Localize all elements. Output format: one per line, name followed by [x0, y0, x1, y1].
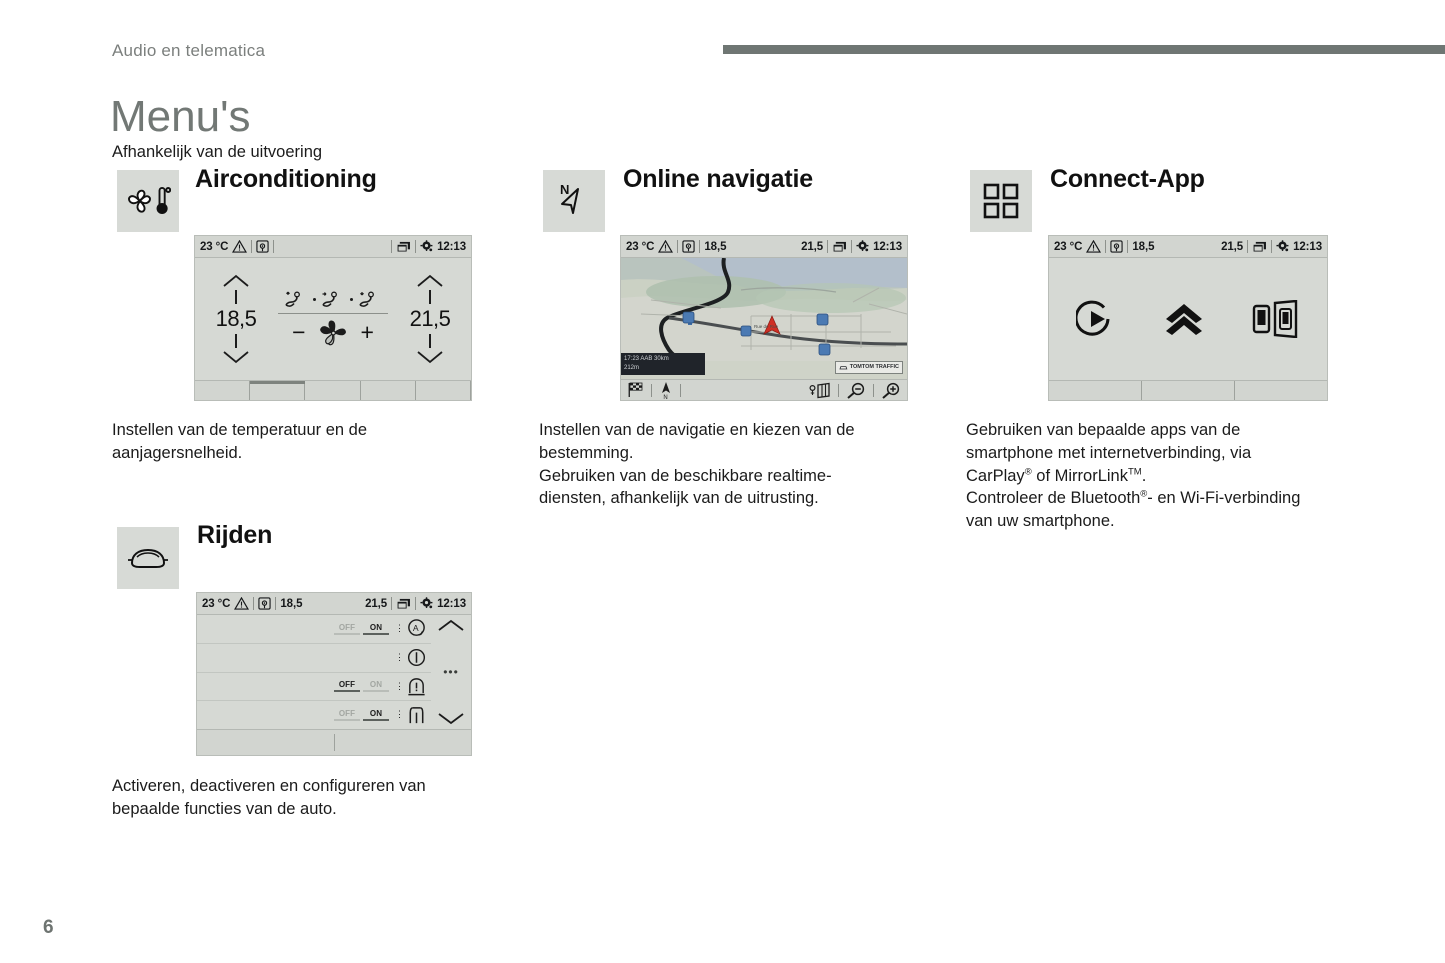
- divider: [275, 597, 276, 610]
- table-row[interactable]: ⋮: [197, 644, 431, 673]
- compass-north-icon[interactable]: N: [659, 381, 673, 399]
- divider: [651, 384, 652, 397]
- map-toolbar[interactable]: N: [621, 379, 907, 400]
- gear-icon: [420, 240, 433, 253]
- zoom-out-icon[interactable]: [846, 382, 866, 399]
- outside-temp: 23 °C: [626, 241, 654, 253]
- left-temp: 18,5: [704, 241, 726, 253]
- airflow-face-icon[interactable]: [321, 291, 345, 309]
- window-icon: [396, 241, 411, 253]
- signal-icon: [256, 240, 269, 253]
- chevron-up-icon[interactable]: [221, 274, 251, 288]
- tab-1[interactable]: [195, 381, 250, 400]
- warning-triangle-icon: [234, 597, 249, 610]
- active-tab-indicator: [250, 381, 305, 384]
- window-icon: [396, 598, 411, 610]
- outside-temp: 23 °C: [200, 241, 228, 253]
- screen-tabbar[interactable]: [195, 380, 471, 400]
- map-view[interactable]: Rue de Rue 17:23 AAB 30km 212m TOMTOM TR…: [621, 258, 907, 379]
- clock: 12:13: [437, 598, 466, 610]
- window-icon: [1252, 241, 1267, 253]
- tab-2[interactable]: [1142, 381, 1235, 400]
- outside-temp: 23 °C: [202, 598, 230, 610]
- tick-mark: [235, 290, 237, 304]
- warning-triangle-icon: [1086, 240, 1101, 253]
- route-distance: 212m: [624, 364, 702, 373]
- divider: [838, 384, 839, 397]
- airflow-and-fan: − +: [267, 291, 399, 348]
- citroen-chevrons-icon[interactable]: [1162, 301, 1206, 337]
- row-menu-dots[interactable]: ⋮: [395, 712, 400, 717]
- section-title: Online navigatie: [623, 165, 813, 194]
- toggle-on-label[interactable]: ON: [363, 680, 389, 692]
- section-online-navigatie: N Online navigatie: [543, 170, 605, 232]
- tick-mark: [429, 290, 431, 304]
- screen-tabbar[interactable]: [1049, 380, 1327, 400]
- right-temp: 21,5: [1221, 241, 1243, 253]
- divider: [1105, 240, 1106, 253]
- chevron-down-icon[interactable]: [436, 711, 466, 726]
- divider: [699, 240, 700, 253]
- map-graphic: Rue de Rue: [621, 258, 907, 361]
- row-menu-dots[interactable]: ⋮: [395, 626, 400, 631]
- divider: [851, 240, 852, 253]
- tab-3[interactable]: [305, 381, 360, 400]
- right-temp: 21,5: [801, 241, 823, 253]
- caption-online-navigatie: Instellen van de navigatie en kiezen van…: [539, 419, 855, 510]
- page-title: Menu's: [110, 95, 250, 139]
- tomtom-traffic-badge: TOMTOM TRAFFIC: [835, 361, 903, 374]
- svg-text:N: N: [560, 182, 569, 197]
- caption-rijden: Activeren, deactiveren en configureren v…: [112, 775, 426, 821]
- left-temperature-control[interactable]: 18,5: [205, 274, 267, 364]
- info-circle-icon: [406, 647, 427, 668]
- fan-increase-button[interactable]: +: [361, 321, 374, 344]
- divider: [278, 313, 388, 314]
- map-view-icon[interactable]: [809, 382, 831, 399]
- tick-mark: [429, 334, 431, 348]
- signal-icon: [1110, 240, 1123, 253]
- toggle-off-label[interactable]: OFF: [334, 623, 360, 635]
- warning-triangle-icon: [232, 240, 247, 253]
- status-bar: 23 °C 18,5 21,5: [197, 593, 471, 615]
- caption-connect-app: Gebruiken van bepaalde apps van de smart…: [966, 419, 1300, 533]
- gear-icon: [856, 240, 869, 253]
- left-temp-value: 18,5: [216, 306, 257, 332]
- divider: [1127, 240, 1128, 253]
- destination-flag-icon[interactable]: [627, 382, 644, 398]
- route-info-panel: 17:23 AAB 30km 212m: [621, 353, 705, 375]
- traffic-car-icon: [839, 364, 848, 371]
- divider: [415, 240, 416, 253]
- divider: [415, 597, 416, 610]
- page-number: 6: [43, 917, 54, 939]
- divider: [1271, 240, 1272, 253]
- window-icon: [832, 241, 847, 253]
- airconditioning-controls: 18,5: [195, 258, 471, 380]
- tab-1[interactable]: [197, 730, 334, 755]
- section-title: Airconditioning: [195, 165, 377, 194]
- right-temp-value: 21,5: [410, 306, 451, 332]
- page-subtitle: Afhankelijk van de uitvoering: [112, 143, 322, 162]
- list-scroll-controls[interactable]: •••: [431, 615, 471, 729]
- caption-bluetooth-line: Controleer de Bluetooth®- en Wi-Fi-verbi…: [966, 487, 1300, 510]
- divider: [677, 240, 678, 253]
- divider: [253, 597, 254, 610]
- tab-divider: [334, 734, 335, 751]
- connect-app-screen: 23 °C 18,5 21,5: [1048, 235, 1328, 401]
- separator-dot: [350, 298, 353, 301]
- map-canvas[interactable]: Rue de Rue 17:23 AAB 30km 212m TOMTOM TR…: [621, 258, 907, 379]
- toggle-lane-keep[interactable]: OFF ON: [334, 709, 389, 721]
- svg-text:N: N: [663, 395, 667, 399]
- navigation-screen: 23 °C 18,5 21,5: [620, 235, 908, 401]
- toggle-on-label[interactable]: ON: [363, 623, 389, 635]
- divider: [873, 384, 874, 397]
- section-title: Connect-App: [1050, 165, 1205, 194]
- caption-carplay-line: CarPlay® of MirrorLinkTM.: [966, 465, 1300, 488]
- zoom-in-icon[interactable]: [881, 382, 901, 399]
- divider: [251, 240, 252, 253]
- stop-start-icon: A: [406, 618, 427, 639]
- play-circle-icon[interactable]: [1076, 299, 1116, 339]
- tomtom-label: TOMTOM TRAFFIC: [850, 365, 899, 371]
- car-front-icon: [117, 527, 179, 589]
- gear-icon: [420, 597, 433, 610]
- chevron-down-icon[interactable]: [221, 350, 251, 364]
- toggle-on-label[interactable]: ON: [363, 709, 389, 721]
- right-temp: 21,5: [365, 598, 387, 610]
- tab-4[interactable]: [361, 381, 416, 400]
- toggle-off-label[interactable]: OFF: [334, 709, 360, 721]
- clock: 12:13: [437, 241, 466, 253]
- grid-apps-icon: [970, 170, 1032, 232]
- status-bar: 23 °C 18,5 21,5: [621, 236, 907, 258]
- table-row[interactable]: OFF ON ⋮: [197, 701, 431, 729]
- divider: [1247, 240, 1248, 253]
- row-menu-dots[interactable]: ⋮: [395, 655, 400, 660]
- fan-decrease-button[interactable]: −: [292, 321, 305, 344]
- left-temp: 18,5: [1132, 241, 1154, 253]
- fan-icon: [317, 318, 350, 348]
- caption-airconditioning: Instellen van de temperatuur en de aanja…: [112, 419, 367, 465]
- north-arrow-icon: N: [543, 170, 605, 232]
- outside-temp: 23 °C: [1054, 241, 1082, 253]
- svg-text:Rue de Rue: Rue de Rue: [754, 324, 779, 329]
- chevron-up-icon[interactable]: [436, 618, 466, 633]
- divider: [680, 384, 681, 397]
- section-connect-app: Connect-App: [970, 170, 1032, 232]
- clock: 12:13: [873, 241, 902, 253]
- toggle-off-label[interactable]: OFF: [334, 680, 360, 692]
- status-bar: 23 °C: [195, 236, 471, 258]
- status-bar: 23 °C 18,5 21,5: [1049, 236, 1327, 258]
- route-eta: 17:23 AAB 30km: [624, 355, 702, 364]
- table-row[interactable]: OFF ON ⋮ A: [197, 615, 431, 644]
- airflow-feet-icon[interactable]: [358, 291, 382, 309]
- clock: 12:13: [1293, 241, 1322, 253]
- separator-dot: [313, 298, 316, 301]
- gear-icon: [1276, 240, 1289, 253]
- section-airconditioning: Airconditioning: [117, 170, 179, 232]
- airconditioning-screen: 23 °C: [194, 235, 472, 401]
- divider: [391, 240, 392, 253]
- screen-tabbar[interactable]: [197, 729, 471, 755]
- tab-3[interactable]: [1235, 381, 1327, 400]
- tab-1[interactable]: [1049, 381, 1142, 400]
- divider: [273, 240, 274, 253]
- row-menu-dots[interactable]: ⋮: [395, 684, 400, 689]
- signal-icon: [682, 240, 695, 253]
- tab-5[interactable]: [416, 381, 471, 400]
- mirrorlink-icon[interactable]: [1252, 300, 1300, 338]
- fan-thermometer-icon: [117, 170, 179, 232]
- tick-mark: [235, 334, 237, 348]
- header-rule: [723, 45, 1445, 54]
- toggle-stop-start[interactable]: OFF ON: [334, 623, 389, 635]
- rijden-screen: 23 °C 18,5 21,5: [196, 592, 472, 756]
- chevron-down-icon[interactable]: [415, 350, 445, 364]
- app-launcher: [1049, 258, 1327, 380]
- right-temperature-control[interactable]: 21,5: [399, 274, 461, 364]
- lane-keep-icon: [406, 705, 427, 726]
- tyre-pressure-icon: [406, 676, 427, 697]
- warning-triangle-icon: [658, 240, 673, 253]
- section-rijden: Rijden: [117, 527, 179, 589]
- signal-icon: [258, 597, 271, 610]
- manual-page: Audio en telematica Menu's Afhankelijk v…: [0, 0, 1445, 963]
- table-row[interactable]: OFF ON ⋮: [197, 673, 431, 702]
- fan-speed-control[interactable]: − +: [292, 318, 374, 348]
- svg-text:A: A: [413, 623, 419, 633]
- tab-2[interactable]: [334, 730, 471, 755]
- toggle-tyre-pressure[interactable]: OFF ON: [334, 680, 389, 692]
- left-temp: 18,5: [280, 598, 302, 610]
- airflow-up-icon[interactable]: [284, 291, 308, 309]
- divider: [391, 597, 392, 610]
- airflow-modes[interactable]: [284, 291, 382, 309]
- divider: [827, 240, 828, 253]
- more-options-label[interactable]: •••: [443, 665, 459, 679]
- driving-settings-list: OFF ON ⋮ A ⋮: [197, 615, 471, 729]
- section-title: Rijden: [197, 521, 272, 550]
- breadcrumb: Audio en telematica: [112, 41, 265, 61]
- chevron-up-icon[interactable]: [415, 274, 445, 288]
